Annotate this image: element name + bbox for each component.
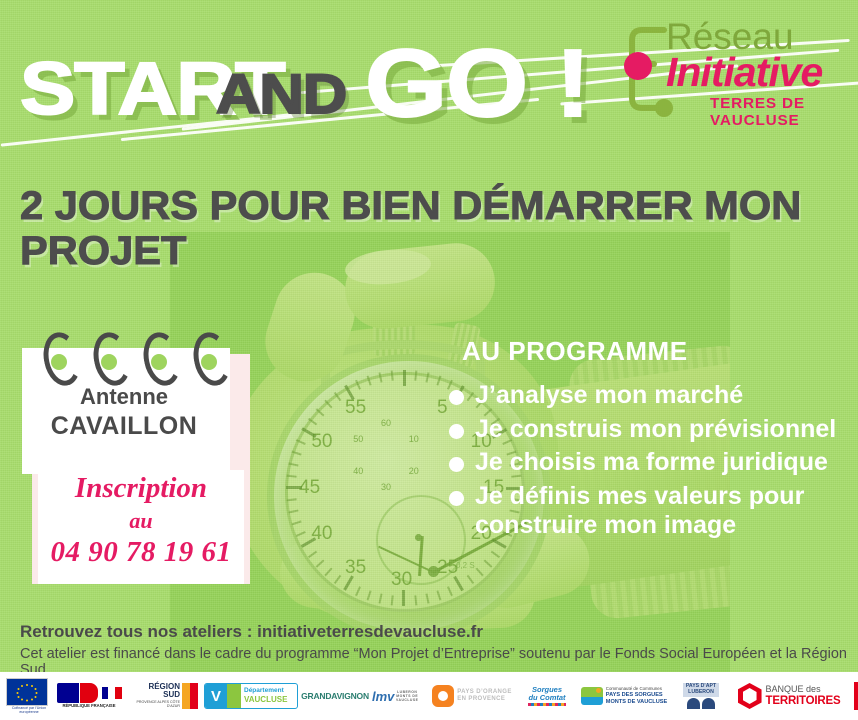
grand-avignon-line2: AVIGNON — [331, 692, 369, 701]
bullet-dot-icon — [449, 390, 464, 405]
eu-caption: Cofinancé par l’Union européenne — [6, 707, 52, 715]
apt-text: PAYS D’APT LUBERON — [683, 683, 719, 697]
inscription-label: Inscription — [38, 472, 244, 505]
programme-item-label: Je construis mon prévisionnel — [475, 415, 836, 445]
partner-logo-republique-francaise: RÉPUBLIQUE FRANÇAISE — [58, 676, 120, 716]
psmv-line3: MONTS DE VAUCLUSE — [606, 699, 667, 705]
vaucluse-line2: VAUCLUSE — [244, 695, 297, 705]
lmv-name: lmv — [372, 689, 394, 704]
programme-item-label: Je définis mes valeurs pour construire m… — [475, 482, 854, 541]
lmv-small: LUBERON MONTS DE VAUCLUSE — [394, 690, 420, 702]
logo-line-terres: TERRES DE VAUCLUSE — [710, 95, 849, 129]
vaucluse-v-mark: V — [205, 684, 227, 708]
bullet-dot-icon — [449, 457, 464, 472]
region-sud-small: PROVENCE ALPES CÔTE D’AZUR — [126, 701, 180, 708]
orange-text: PAYS D’ORANGE EN PROVENCE — [457, 689, 512, 704]
caisse-depots-name: CAISSE DES DÉPÔTS — [854, 701, 858, 710]
vaucluse-text: Département VAUCLUSE — [241, 687, 297, 704]
rf-blue-block — [57, 683, 79, 703]
programme-item: J’analyse mon marché — [462, 381, 854, 411]
eu-flag-icon — [6, 678, 48, 706]
headline-word-go: GO ! — [365, 36, 589, 132]
programme-title: AU PROGRAMME — [462, 336, 854, 367]
programme-list: J’analyse mon marchéJe construis mon pré… — [462, 381, 854, 541]
poster-root: 0,2 S 510152025303540455055 601020304050… — [0, 0, 858, 720]
rf-red-block — [80, 683, 98, 703]
notepad-card: Antenne CAVAILLON Inscription au 04 90 7… — [18, 330, 270, 584]
programme-item-label: Je choisis ma forme juridique — [475, 448, 828, 478]
partner-logo-banque-des-territoires: BANQUE des TERRITOIRES — [730, 676, 848, 716]
rf-mark — [57, 683, 122, 703]
banque-line1: BANQUE des — [766, 684, 821, 694]
sorgues-dots-icon — [528, 703, 565, 706]
partner-logo-pays-apt-luberon: PAYS D’APT LUBERON — [678, 676, 724, 716]
partner-logo-sorgues: Sorgues du Comtat — [524, 676, 570, 716]
bullet-dot-icon — [449, 491, 464, 506]
programme-item: Je choisis ma forme juridique — [462, 448, 854, 478]
psmv-text: Communauté de Communes PAYS DES SORGUES … — [606, 686, 667, 705]
bullet-dot-icon — [449, 424, 464, 439]
headline-word-and: AND — [216, 66, 346, 122]
programme-section: AU PROGRAMME J’analyse mon marchéJe cons… — [462, 336, 854, 545]
subheadline: 2 JOURS POUR BIEN DÉMARRER MON PROJET — [20, 184, 858, 274]
vaucluse-line1: Département — [244, 687, 284, 694]
partner-logo-caisse-des-depots: CAISSE DES DÉPÔTS — [854, 676, 858, 716]
caisse-depots-mark: CAISSE DES DÉPÔTS — [854, 682, 858, 710]
programme-item: Je définis mes valeurs pour construire m… — [462, 482, 854, 541]
logo-line-initiative: Initiative — [666, 52, 846, 93]
partner-logo-departement-vaucluse: V Département VAUCLUSE — [204, 683, 298, 709]
grand-avignon-line1: GRAND — [301, 692, 331, 701]
rf-name: RÉPUBLIQUE FRANÇAISE — [57, 704, 122, 709]
partner-logo-pays-sorgues-monts: Communauté de Communes PAYS DES SORGUES … — [576, 676, 672, 716]
antenne-label: Antenne — [18, 384, 230, 410]
region-sud-line2: SUD — [163, 690, 180, 699]
partner-logo-region-sud: RÉGION SUD PROVENCE ALPES CÔTE D’AZUR — [126, 676, 198, 716]
reseau-initiative-logo: Réseau Initiative TERRES DE VAUCLUSE — [624, 18, 846, 122]
orange-line2: EN PROVENCE — [457, 696, 512, 704]
banque-line2: TERRITOIRES — [766, 695, 841, 708]
eu-stars-icon — [7, 679, 47, 705]
orange-line1: PAYS D’ORANGE — [457, 689, 512, 697]
banque-hexagon-icon — [738, 683, 762, 709]
region-sud-bars-icon — [182, 683, 198, 709]
apt-hills-icon — [687, 698, 715, 709]
vaucluse-green-bar — [227, 684, 241, 708]
inscription-au-label: au — [38, 508, 244, 534]
partner-logos-bar: Cofinancé par l’Union européenne RÉPUBLI… — [0, 672, 858, 720]
footer-website-line: Retrouvez tous nos ateliers : initiative… — [20, 622, 483, 642]
partner-logo-lmv: lmv LUBERON MONTS DE VAUCLUSE — [372, 676, 420, 716]
region-sud-text: RÉGION SUD PROVENCE ALPES CÔTE D’AZUR — [126, 683, 180, 708]
partner-logo-grand-avignon: GRAND AVIGNON — [304, 676, 366, 716]
logo-text-block: Réseau Initiative TERRES DE VAUCLUSE — [666, 18, 846, 129]
programme-item-label: J’analyse mon marché — [475, 381, 743, 411]
partner-logo-pays-orange: PAYS D’ORANGE EN PROVENCE — [426, 676, 518, 716]
banque-text: BANQUE des TERRITOIRES — [766, 684, 841, 708]
psmv-landscape-icon — [581, 687, 603, 705]
headline: START AND GO ! — [20, 36, 640, 136]
antenne-city: CAVAILLON — [18, 412, 230, 441]
programme-item: Je construis mon prévisionnel — [462, 415, 854, 445]
phone-number: 04 90 78 19 61 — [28, 536, 254, 569]
french-flag-icon — [102, 687, 122, 699]
psmv-line2: PAYS DES SORGUES — [606, 692, 663, 698]
sorgues-line2: du Comtat — [528, 693, 565, 702]
partner-logo-eu: Cofinancé par l’Union européenne — [6, 676, 52, 716]
orange-flower-icon — [432, 685, 454, 707]
apt-line2: LUBERON — [688, 689, 714, 695]
